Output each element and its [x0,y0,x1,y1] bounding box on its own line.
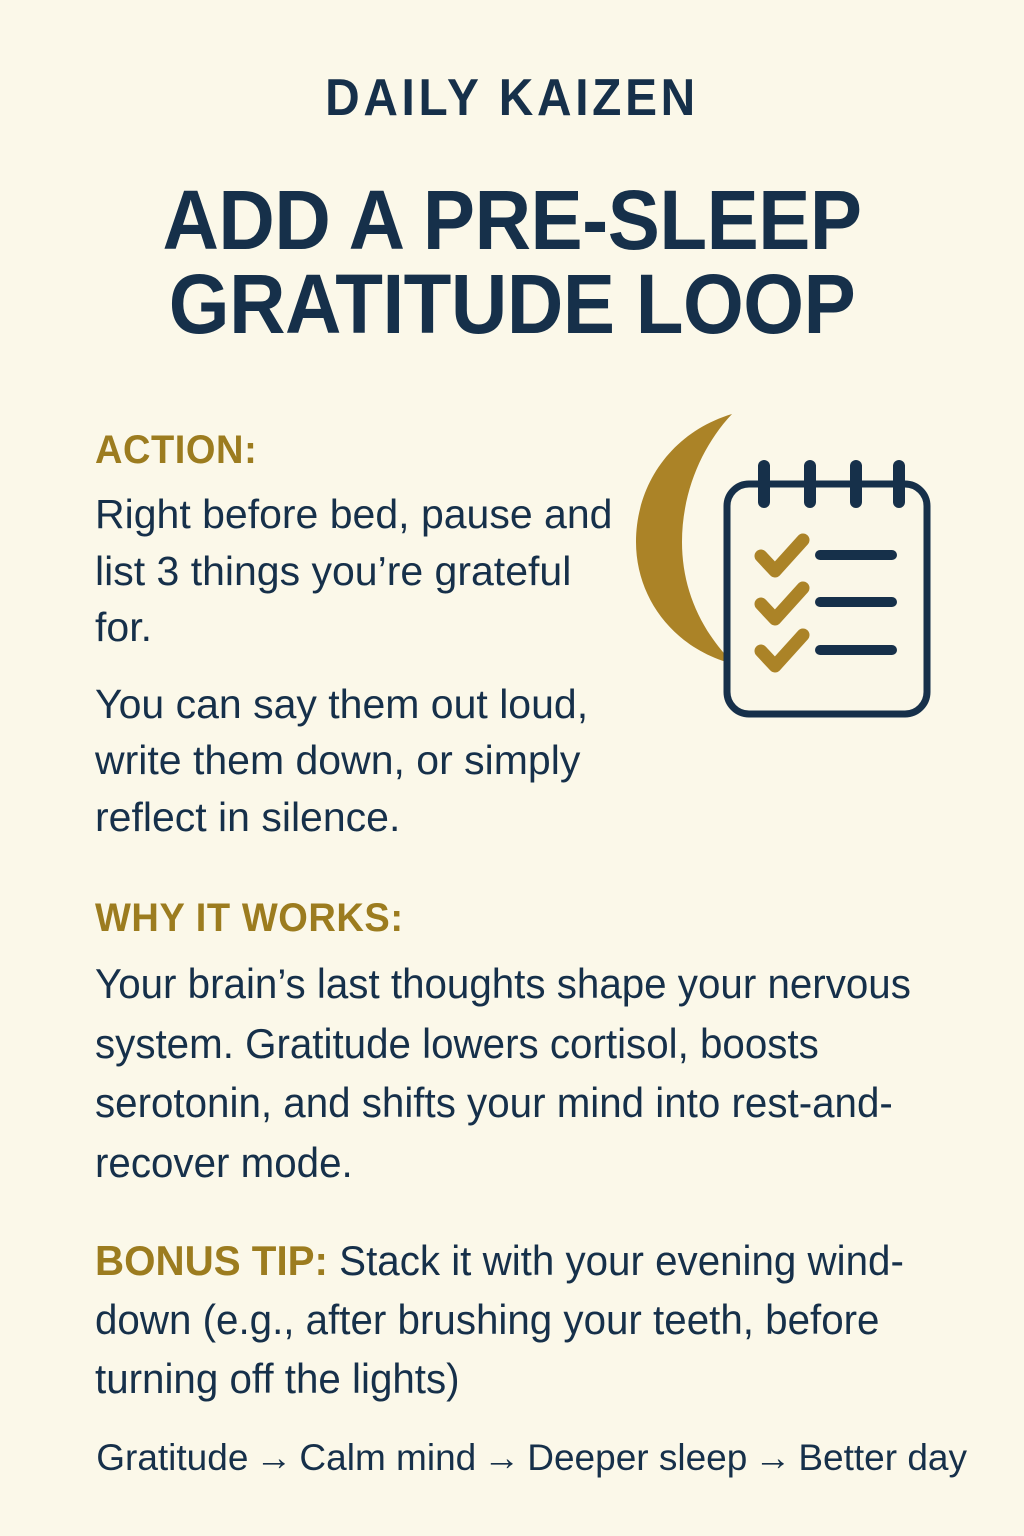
action-paragraph-1: Right before bed, pause and list 3 thing… [95,486,615,656]
bonus-tip-section: BONUS TIP: Stack it with your evening wi… [95,1232,965,1408]
action-section: ACTION: Right before bed, pause and list… [95,428,615,845]
chain-step-1: Gratitude [96,1437,248,1478]
chain-step-3: Deeper sleep [527,1437,747,1478]
page-title-line-2: GRATITUDE LOOP [82,262,941,346]
brand-eyebrow: DAILY KAIZEN [41,72,983,124]
chain-arrow-1-icon: → [248,1437,299,1478]
action-kicker: ACTION: [95,428,589,472]
crescent-moon-icon [636,414,734,664]
chain-step-4: Better day [798,1437,967,1478]
action-paragraph-2: You can say them out loud, write them do… [95,676,615,846]
outcome-chain: Gratitude→Calm mind→Deeper sleep→Better … [95,1434,967,1481]
why-it-works-kicker: WHY IT WORKS: [95,896,912,940]
bonus-tip-kicker: BONUS TIP: [95,1237,328,1284]
chain-step-2: Calm mind [299,1437,476,1478]
page-title-line-1: ADD A PRE-SLEEP [82,178,941,262]
chain-arrow-3-icon: → [747,1437,798,1478]
page-title: ADD A PRE-SLEEP GRATITUDE LOOP [82,178,941,346]
chain-arrow-2-icon: → [476,1437,527,1478]
why-it-works-paragraph: Your brain’s last thoughts shape your ne… [95,954,921,1193]
infographic-page: DAILY KAIZEN ADD A PRE-SLEEP GRATITUDE L… [0,0,1024,1536]
why-it-works-section: WHY IT WORKS: Your brain’s last thoughts… [95,896,955,1193]
bonus-tip-paragraph: BONUS TIP: Stack it with your evening wi… [95,1232,930,1408]
moon-and-checklist-notepad-icon [620,408,960,738]
